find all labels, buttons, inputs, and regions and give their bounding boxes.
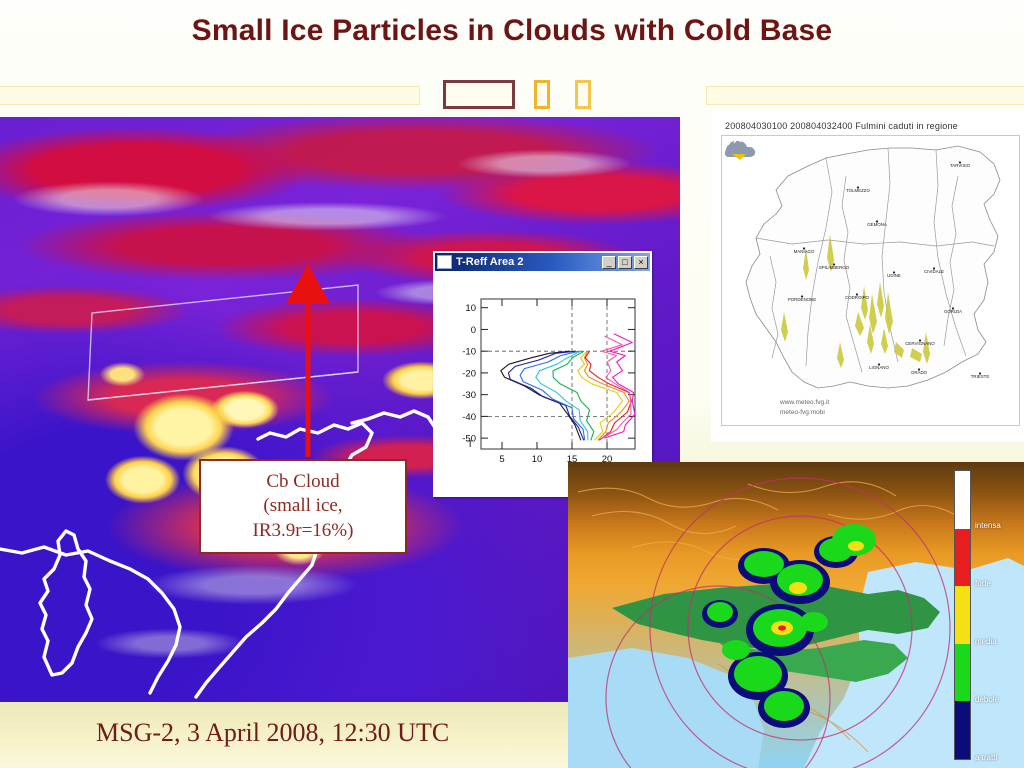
- town-label: GORIZIA: [944, 309, 962, 314]
- treff-titlebar[interactable]: T-Reff Area 2 _ □ ×: [435, 253, 650, 271]
- lightning-map-frame: TARVISIOTOLMEZZOGEMONAMANIAGOSPILIMBERGO…: [721, 135, 1020, 426]
- town-label: SPILIMBERGO: [819, 265, 850, 270]
- divider-bar-right: [706, 86, 1024, 105]
- logo-url-line-2: meteo-fvg.mobi: [780, 408, 829, 418]
- cb-cloud-callout: Cb Cloud (small ice, IR3.9r=16%): [199, 459, 407, 554]
- region-outline: [746, 146, 1000, 388]
- svg-text:5: 5: [499, 454, 504, 465]
- svg-text:-10: -10: [462, 347, 476, 358]
- treff-window[interactable]: T-Reff Area 2 _ □ × -50-40-30-20-10010T5…: [433, 251, 652, 497]
- legend-label-a-tratti: a tratti: [975, 753, 997, 762]
- divider-box-main: [443, 80, 515, 109]
- fvg-region-map: TARVISIOTOLMEZZOGEMONAMANIAGOSPILIMBERGO…: [722, 136, 1019, 425]
- svg-text:0: 0: [471, 325, 476, 336]
- legend-swatch-intensa: [955, 471, 970, 529]
- meteo-fvg-logo-text: www.meteo.fvg.it meteo-fvg.mobi: [780, 398, 829, 418]
- legend-swatch-media: [955, 586, 970, 644]
- svg-text:-20: -20: [462, 368, 476, 379]
- legend-label-intensa: intensa: [975, 521, 1001, 530]
- radar-legend: intensafortemediadebolea tratti: [954, 470, 1020, 760]
- divider-box-small-2: [575, 80, 591, 109]
- divider-bar-left: [0, 86, 420, 105]
- town-label: MANIAGO: [794, 249, 815, 254]
- lightning-map-header: 200804030100 200804032400 Fulmini caduti…: [711, 112, 1024, 135]
- svg-text:10: 10: [465, 303, 476, 314]
- svg-text:T: T: [467, 439, 473, 450]
- legend-label-forte: forte: [975, 579, 991, 588]
- minimize-button[interactable]: _: [602, 256, 616, 269]
- town-label: GEMONA: [867, 222, 887, 227]
- legend-swatch-forte: [955, 529, 970, 587]
- slide-canvas: Small Ice Particles in Clouds with Cold …: [0, 0, 1024, 768]
- treff-window-title: T-Reff Area 2: [456, 256, 600, 268]
- town-label: TOLMEZZO: [846, 188, 870, 193]
- radar-legend-colorbar: [954, 470, 971, 760]
- legend-label-media: media: [975, 637, 997, 646]
- town-label: TARVISIO: [950, 163, 971, 168]
- town-label: UDINE: [887, 273, 901, 278]
- callout-line-2: (small ice,: [263, 494, 342, 518]
- page-title: Small Ice Particles in Clouds with Cold …: [0, 14, 1024, 48]
- legend-swatch-debole: [955, 644, 970, 702]
- divider-box-small-1: [534, 80, 550, 109]
- logo-url-line-1: www.meteo.fvg.it: [780, 398, 829, 408]
- meteo-fvg-logo-icon: [722, 136, 760, 162]
- slide-caption: MSG-2, 3 April 2008, 12:30 UTC: [96, 718, 449, 748]
- town-label: CIVIDALE: [924, 269, 944, 274]
- town-label: CODROIPO: [845, 295, 869, 300]
- radar-composite-image: intensafortemediadebolea tratti: [568, 462, 1024, 768]
- close-button[interactable]: ×: [634, 256, 648, 269]
- svg-text:-40: -40: [462, 412, 476, 423]
- window-app-icon: [437, 255, 452, 269]
- town-label: LIGNANO: [869, 365, 889, 370]
- maximize-button[interactable]: □: [618, 256, 632, 269]
- legend-label-debole: debole: [975, 695, 999, 704]
- svg-text:10: 10: [532, 454, 543, 465]
- lightning-map-panel: 200804030100 200804032400 Fulmini caduti…: [711, 112, 1024, 442]
- svg-text:-30: -30: [462, 390, 476, 401]
- callout-line-3: IR3.9r=16%): [253, 519, 354, 543]
- town-label: PORDENONE: [788, 297, 816, 302]
- legend-swatch-a-tratti: [955, 701, 970, 759]
- callout-line-1: Cb Cloud: [266, 470, 339, 494]
- town-label: TRIESTE: [971, 374, 990, 379]
- town-label: GRADO: [911, 370, 928, 375]
- town-label: CERVIGNANO: [905, 341, 935, 346]
